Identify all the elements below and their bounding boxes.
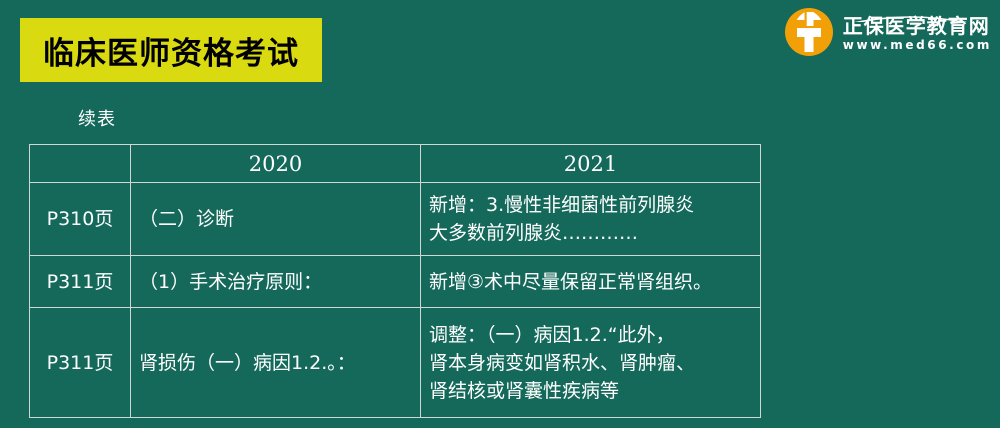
cell-2020-content: 肾损伤（一）病因1.2.。： xyxy=(131,308,421,418)
cell-page-reference: P310页 xyxy=(30,183,131,256)
column-header-2020: 2020 xyxy=(131,145,421,183)
cell-2020-content: （1）手术治疗原则： xyxy=(131,256,421,308)
brand-logo: 正保医学教育网 www.med66.com xyxy=(783,6,992,58)
cell-2020-content: （二）诊断 xyxy=(131,183,421,256)
page-title-banner: 临床医师资格考试 xyxy=(20,18,322,82)
cell-2021-content: 新增：3.慢性非细菌性前列腺炎 大多数前列腺炎………… xyxy=(421,183,761,256)
cell-line: （1）手术治疗原则： xyxy=(139,268,412,296)
comparison-table: 2020 2021 P310页 （二）诊断 新增：3.慢性非细菌性前列腺炎 大多… xyxy=(29,144,761,418)
table-caption: 续表 xyxy=(78,105,116,131)
cell-page-reference: P311页 xyxy=(30,308,131,418)
cell-line: 新增：3.慢性非细菌性前列腺炎 xyxy=(429,191,752,219)
column-header-2021: 2021 xyxy=(421,145,761,183)
cell-page-reference: P311页 xyxy=(30,256,131,308)
cell-line: （二）诊断 xyxy=(139,205,412,233)
cross-in-circle-icon xyxy=(783,6,835,58)
table-row: P310页 （二）诊断 新增：3.慢性非细菌性前列腺炎 大多数前列腺炎………… xyxy=(30,183,761,256)
brand-arc-decoration xyxy=(847,10,975,22)
brand-url: www.med66.com xyxy=(843,37,992,53)
table-header-row: 2020 2021 xyxy=(30,145,761,183)
table-row: P311页 （1）手术治疗原则： 新增③术中尽量保留正常肾组织。 xyxy=(30,256,761,308)
cell-line: 肾损伤（一）病因1.2.。： xyxy=(139,349,412,377)
cell-line: 调整：（一）病因1.2.“此外， xyxy=(429,321,752,349)
cell-line: 肾本身病变如肾积水、肾肿瘤、 xyxy=(429,349,752,377)
column-header-blank xyxy=(30,145,131,183)
table-row: P311页 肾损伤（一）病因1.2.。： 调整：（一）病因1.2.“此外， 肾本… xyxy=(30,308,761,418)
cell-line: 大多数前列腺炎………… xyxy=(429,219,752,247)
page-title: 临床医师资格考试 xyxy=(43,28,299,73)
cell-2021-content: 新增③术中尽量保留正常肾组织。 xyxy=(421,256,761,308)
cell-2021-content: 调整：（一）病因1.2.“此外， 肾本身病变如肾积水、肾肿瘤、 肾结核或肾囊性疾… xyxy=(421,308,761,418)
cell-line: 肾结核或肾囊性疾病等 xyxy=(429,377,752,405)
cell-line: 新增③术中尽量保留正常肾组织。 xyxy=(429,268,752,296)
